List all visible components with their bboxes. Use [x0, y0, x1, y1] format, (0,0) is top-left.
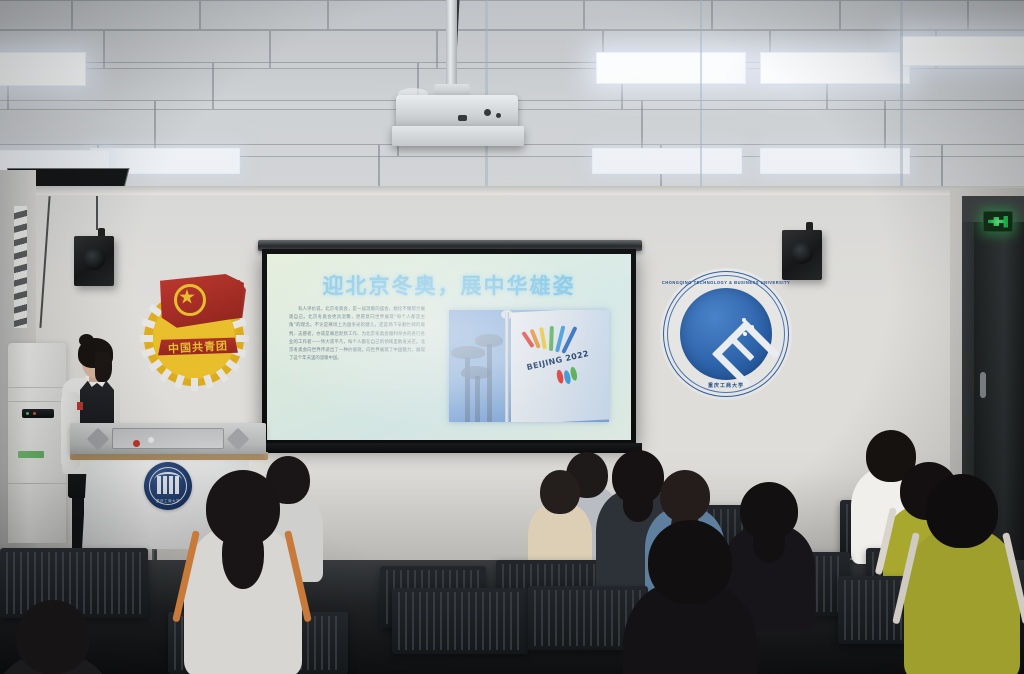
seal-disc — [680, 288, 772, 380]
wall-trim — [0, 186, 1024, 195]
audience-member-beige — [540, 470, 580, 550]
slide-title: 迎北京冬奥，展中华雄姿 — [267, 270, 631, 300]
audience-torso — [904, 529, 1019, 674]
ceiling-light-panel — [0, 52, 86, 86]
audience-member-far-right — [926, 474, 998, 624]
chair-backrest-slats — [398, 592, 522, 650]
presenter-badge — [77, 402, 83, 410]
classroom-scene: 中国共青团 CHONGQING TECHNOLOGY & BUSINESS UN… — [0, 0, 1024, 674]
podium-white-button[interactable] — [148, 437, 154, 443]
ribbon-stroke-icon — [549, 326, 554, 351]
ceiling-light-panel — [592, 148, 742, 174]
projector-body — [396, 95, 518, 129]
beijing-2022-ribbon-icon — [527, 320, 571, 354]
audience-head — [740, 482, 798, 540]
speaker-cone-icon — [83, 248, 105, 270]
ceiling-tile — [712, 0, 840, 30]
audience-member-hoodie-grey — [206, 470, 280, 620]
ceiling-light-panel — [596, 52, 746, 84]
projector-pole — [446, 0, 457, 90]
audience-member-front-right — [648, 520, 732, 674]
air-conditioner-unit — [8, 343, 66, 543]
ceiling-tile — [968, 0, 1024, 30]
wall-speaker-left — [74, 236, 114, 286]
wall-speaker-right — [782, 230, 822, 280]
projector-knob-icon — [484, 109, 491, 116]
corner-guard-stripe — [14, 206, 27, 328]
audience-head — [926, 474, 998, 548]
wheat-notch-icon — [191, 378, 198, 391]
podium-control-panel[interactable] — [112, 428, 224, 449]
slide-body-text: 有人评价说，北京冬奥会，是一届温暖的盛会，她比不懈努力展现自己。北京冬奥会更具温… — [289, 306, 425, 428]
wall-wire — [96, 196, 98, 230]
projected-slide: 迎北京冬奥，展中华雄姿 有人评价说，北京冬奥会，是一届温暖的盛会，她比不懈努力展… — [267, 254, 631, 440]
slide-photo: BEIJING 2022 — [449, 310, 609, 422]
communist-youth-league-emblem: 中国共青团 — [138, 272, 256, 388]
seal-text-bottom: 重庆工商大学 — [660, 382, 792, 389]
seal-text-top: CHONGQING TECHNOLOGY & BUSINESS UNIVERSI… — [660, 280, 792, 285]
audience-head — [206, 470, 280, 546]
speaker-cone-icon — [791, 242, 813, 264]
audience-head — [540, 470, 580, 514]
ceiling-tile — [72, 0, 200, 30]
audience-member-dark-centre — [740, 482, 798, 588]
ceiling-tile — [584, 0, 712, 30]
wheat-notch-icon — [236, 335, 249, 342]
wheat-notch-icon — [140, 335, 153, 342]
ceiling-light-panel — [760, 148, 910, 174]
lecture-chair[interactable] — [392, 588, 528, 654]
ceiling-tile — [456, 0, 584, 30]
audience-head — [612, 450, 664, 504]
ceiling-light-panel — [900, 36, 1024, 66]
audience-member-front-left — [16, 600, 90, 674]
flagpole — [505, 312, 509, 422]
ceiling-tile — [328, 0, 456, 30]
podium-diamond-icon — [87, 428, 110, 451]
sticky-note — [18, 451, 44, 458]
projector-base-plate — [392, 126, 524, 146]
door-handle[interactable] — [980, 372, 986, 398]
audience-head — [16, 600, 90, 674]
projector-port-icon — [458, 115, 467, 121]
university-seal: CHONGQING TECHNOLOGY & BUSINESS UNIVERSI… — [660, 268, 792, 400]
logo-pillars-icon — [157, 476, 179, 494]
podium-red-button[interactable] — [133, 440, 140, 447]
emergency-exit-sign — [983, 211, 1013, 232]
presenter-hair-side — [95, 352, 112, 382]
projector-knob-icon — [496, 113, 501, 118]
podium-university-logo: 重庆工商大学 — [144, 462, 192, 510]
podium-logo-text: 重庆工商大学 — [144, 499, 192, 504]
running-man-exit-icon — [988, 216, 1008, 228]
audience-head — [648, 520, 732, 604]
presenter-hair-bun — [79, 334, 94, 347]
ceiling-light-panel — [760, 52, 910, 84]
ceiling-tile — [200, 0, 328, 30]
audience-head — [660, 470, 710, 522]
podium-diamond-icon — [227, 428, 250, 451]
ceiling-tile — [0, 0, 72, 30]
ceiling-tile — [840, 0, 968, 30]
